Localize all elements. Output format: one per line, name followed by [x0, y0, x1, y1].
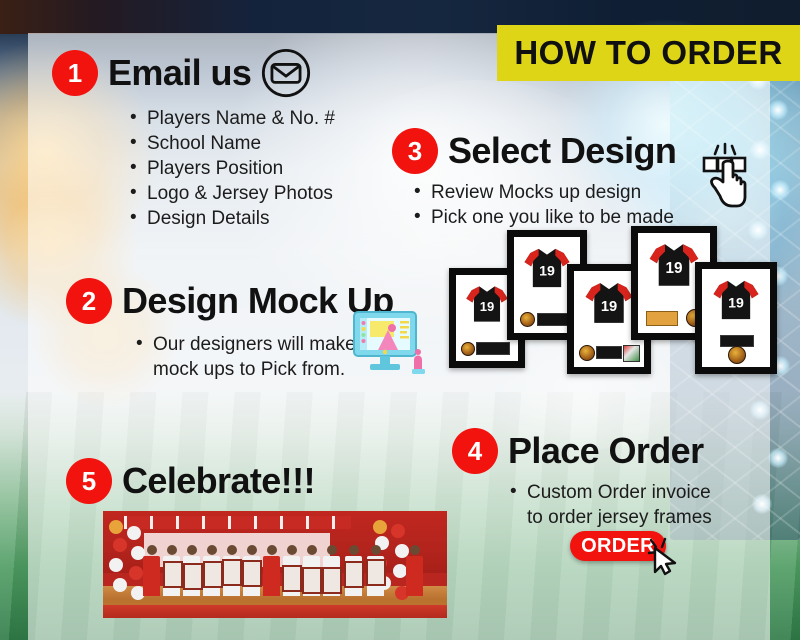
list-item: Players Name & No. # [130, 106, 335, 131]
list-item: Custom Order invoice [510, 480, 712, 505]
svg-text:19: 19 [666, 260, 683, 277]
held-frame [302, 567, 322, 594]
held-frame [203, 561, 223, 588]
person [263, 545, 280, 596]
team-logo-badge [579, 345, 595, 361]
step-3: 3 Select Design Review Mocks up design P… [392, 128, 676, 230]
step-5-title: Celebrate!!! [122, 460, 315, 502]
step-4-title: Place Order [508, 430, 704, 472]
held-frame [366, 559, 386, 586]
jersey-frame: 19 [695, 262, 777, 374]
svg-text:19: 19 [728, 296, 744, 312]
jersey-icon: 19 [464, 283, 510, 325]
envelope-icon [261, 48, 311, 98]
step-1-number-badge: 1 [52, 50, 98, 96]
person [143, 545, 160, 596]
name-plaque [537, 313, 569, 326]
step-2-number-badge: 2 [66, 278, 112, 324]
step-1: 1 Email us Players Name & No. # School N… [52, 48, 335, 231]
jersey-icon: 19 [711, 277, 761, 323]
step-1-title: Email us [108, 52, 251, 94]
step-5-header: 5 Celebrate!!! [66, 458, 315, 504]
held-frame [183, 563, 203, 590]
wall-banner [124, 516, 351, 529]
list-item: Players Position [130, 156, 335, 181]
name-plaque [476, 342, 510, 355]
hand-select-icon [692, 142, 754, 210]
list-item: Design Details [130, 206, 335, 231]
step-4-bullet-continued: to order jersey frames [510, 505, 712, 530]
banner-title: HOW TO ORDER [514, 34, 782, 72]
svg-text:19: 19 [539, 264, 555, 280]
held-frame [242, 560, 262, 587]
svg-text:19: 19 [601, 299, 617, 315]
order-button-label: ORDER [581, 535, 655, 558]
jersey-frame-collage: 19 19 [455, 222, 775, 372]
list-item: Logo & Jersey Photos [130, 181, 335, 206]
step-2-header: 2 Design Mock Up [66, 278, 394, 324]
name-plaque [596, 346, 622, 359]
step-4: 4 Place Order Custom Order invoice to or… [452, 428, 712, 530]
step-4-bullets: Custom Order invoice [510, 480, 712, 505]
team-logo-badge [520, 312, 535, 327]
held-frame [222, 559, 242, 586]
step-3-number-badge: 3 [392, 128, 438, 174]
list-item: Review Mocks up design [414, 180, 676, 205]
photo-chip [623, 345, 640, 362]
step-2: 2 Design Mock Up Our designers will make… [66, 278, 394, 382]
step-3-title: Select Design [448, 130, 676, 172]
how-to-order-banner: HOW TO ORDER [497, 25, 800, 81]
step-4-number-badge: 4 [452, 428, 498, 474]
step-5: 5 Celebrate!!! [66, 458, 315, 504]
step-3-header: 3 Select Design [392, 128, 676, 174]
held-frame [344, 561, 364, 588]
team-photo [103, 511, 447, 618]
monitor-design-icon [352, 308, 428, 380]
frame-mat: 19 [702, 269, 770, 367]
jersey-icon: 19 [583, 279, 635, 327]
step-5-number-badge: 5 [66, 458, 112, 504]
name-plaque [646, 311, 678, 326]
step-1-header: 1 Email us [52, 48, 335, 98]
held-frame [322, 567, 342, 594]
svg-text:19: 19 [480, 299, 494, 314]
person [406, 545, 423, 596]
step-1-bullets: Players Name & No. # School Name Players… [130, 106, 335, 231]
held-frame [163, 561, 183, 588]
poster-canvas: HOW TO ORDER 1 Email us Players Name & N… [0, 0, 800, 640]
list-item: School Name [130, 131, 335, 156]
step-4-header: 4 Place Order [452, 428, 712, 474]
jersey-icon: 19 [522, 245, 572, 291]
jersey-icon: 19 [647, 240, 701, 290]
held-frame [282, 565, 302, 592]
team-logo-badge [461, 342, 475, 356]
click-cursor-icon [645, 536, 683, 576]
team-logo-badge [728, 346, 746, 364]
